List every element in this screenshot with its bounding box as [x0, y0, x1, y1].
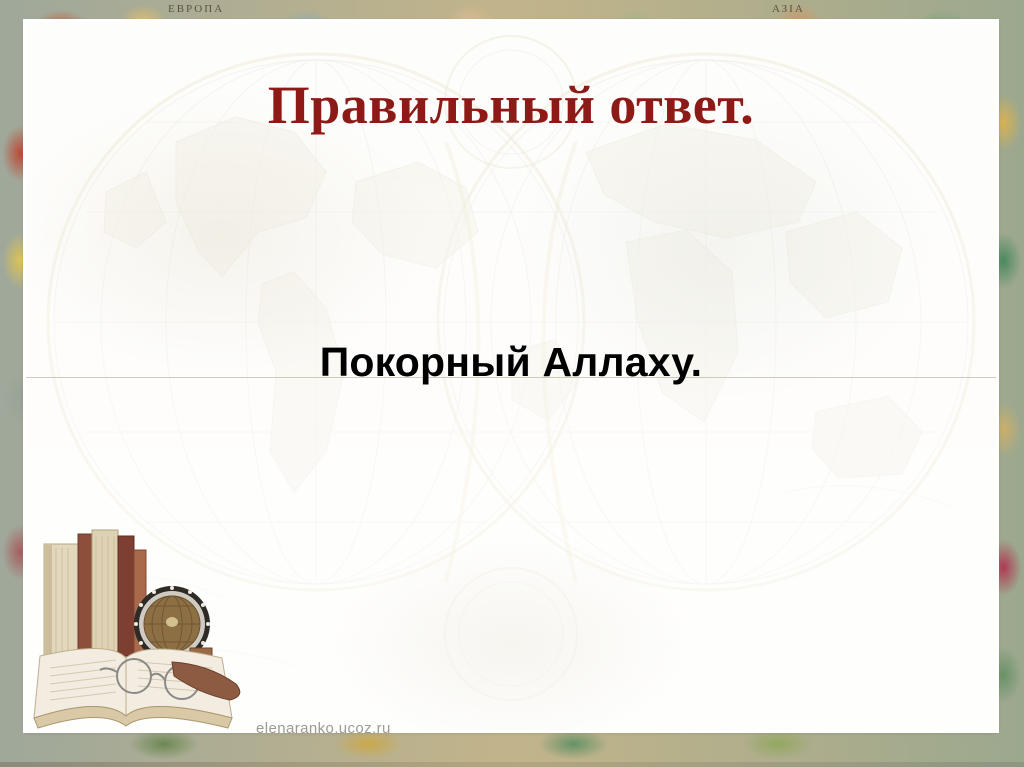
frame-label-europe: ЕВРОПА	[168, 3, 224, 15]
slide-body-text: Покорный Аллаху.	[26, 340, 996, 385]
frame-label-asia: АЗІА	[772, 3, 805, 15]
watermark: elenaranko.ucoz.ru	[256, 720, 391, 737]
slide-canvas: Правильный ответ. Покорный Аллаху.	[26, 22, 996, 730]
presentation-slide: ЕВРОПА АЗІА	[0, 0, 1024, 767]
slide-title: Правильный ответ.	[26, 77, 996, 134]
frame-bottom-edge	[0, 762, 1024, 767]
stacked-books	[44, 530, 146, 656]
books-globe-illustration	[22, 506, 272, 736]
